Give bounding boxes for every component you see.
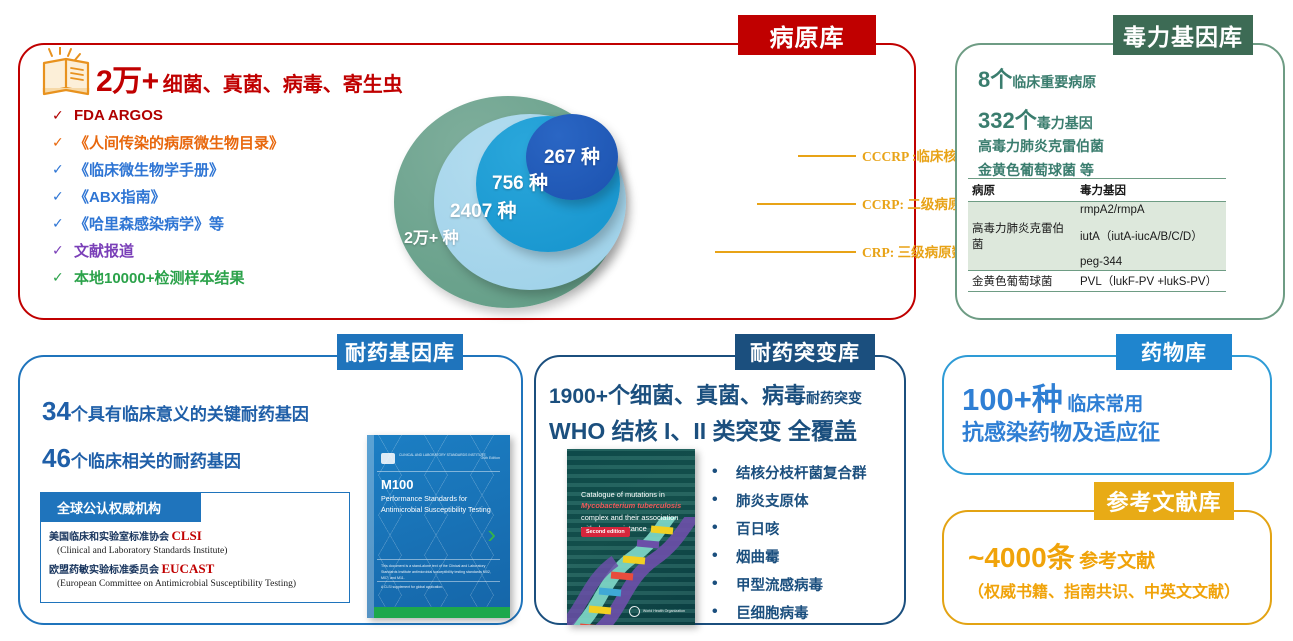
pathogen-source-item: ✓本地10000+检测样本结果 <box>52 264 352 291</box>
pathogen-source-label: 《临床微生物学手册》 <box>74 159 224 180</box>
virulence-species-1: 高毒力肺炎克雷伯菌 <box>978 136 1104 156</box>
virulence-species-2: 金黄色葡萄球菌 等 <box>978 160 1094 180</box>
leader-line-cccrp <box>798 155 856 157</box>
bullet-icon: • <box>712 519 736 537</box>
pathogen-source-label: 《ABX指南》 <box>74 186 166 207</box>
pathogen-categories: 细菌、真菌、病毒、寄生虫 <box>163 74 403 96</box>
infographic-canvas: 病原库 2万+细菌、真菌、病毒、寄生虫 ✓FDA ARGOS✓《人间传染的病原微… <box>0 0 1293 641</box>
bullet-icon: • <box>712 463 736 481</box>
cover-rule <box>377 471 500 472</box>
check-icon: ✓ <box>52 242 72 259</box>
venn-core-label: 267 种 <box>544 142 600 169</box>
resmut-list-item: •结核分枝杆菌复合群 <box>712 458 867 486</box>
virulence-gene-table: 病原 毒力基因 rmpA2/rmpA 高毒力肺炎克雷伯菌 iutA（iutA-i… <box>968 178 1226 292</box>
check-icon: ✓ <box>52 269 72 286</box>
bullet-icon: • <box>712 491 736 509</box>
pathogen-library-badge: 病原库 <box>738 15 876 55</box>
resmut-item-label: 肺炎支原体 <box>736 490 809 511</box>
pathogen-source-label: 《人间传染的病原微生物目录》 <box>74 132 284 153</box>
authority-entry-1-cn: 美国临床和实验室标准协会 CLSI <box>49 528 341 544</box>
authority-entry-2-en: (European Committee on Antimicrobial Sus… <box>57 579 341 589</box>
pathogen-source-item: ✓《临床微生物学手册》 <box>52 156 352 183</box>
pathogen-source-label: 文献报道 <box>74 240 134 261</box>
book-fineprint: This document is a stand-alone text of t… <box>381 563 498 581</box>
chevron-right-icon: › <box>487 519 496 550</box>
table-row: 金黄色葡萄球菌 PVL（lukF-PV +lukS-PV） <box>968 271 1226 292</box>
table-row: rmpA2/rmpA <box>968 202 1226 219</box>
pathogen-source-label: 本地10000+检测样本结果 <box>74 267 244 288</box>
authority-entry-1-en: (Clinical and Laboratory Standards Insti… <box>57 546 341 556</box>
cover-rule-2 <box>377 559 500 560</box>
resmut-item-label: 烟曲霉 <box>736 546 780 567</box>
drug-stat-line: 100+种 临床常用 <box>962 374 1143 419</box>
resistance-gene-badge: 耐药基因库 <box>337 334 463 370</box>
resistance-mutation-badge: 耐药突变库 <box>735 334 875 370</box>
pathogen-source-item: ✓《ABX指南》 <box>52 183 352 210</box>
col-pathogen: 病原 <box>968 179 1076 202</box>
cover-green-bar <box>374 607 510 618</box>
resgene-stat-2: 46个临床相关的耐药基因 <box>42 443 241 474</box>
resmut-list-item: •烟曲霉 <box>712 542 867 570</box>
table-row: peg-344 <box>968 254 1226 271</box>
gene-cell: PVL（lukF-PV +lukS-PV） <box>1076 271 1226 292</box>
pathogen-source-item: ✓《哈里森感染病学》等 <box>52 210 352 237</box>
reference-library-badge: 参考文献库 <box>1094 482 1234 520</box>
pathogen-source-item: ✓文献报道 <box>52 237 352 264</box>
cover-rule-3 <box>377 581 500 582</box>
book-fineprint-2: A CLSI supplement for global application… <box>381 585 443 589</box>
check-icon: ✓ <box>52 107 72 124</box>
authority-box: 全球公认权威机构 美国临床和实验室标准协会 CLSI (Clinical and… <box>40 492 350 603</box>
clsi-org-name: CLINICAL AND LABORATORY STANDARDS INSTIT… <box>399 453 486 458</box>
pathogen-cell: 高毒力肺炎克雷伯菌 <box>968 218 1076 254</box>
table-header-row: 病原 毒力基因 <box>968 179 1226 202</box>
resmut-item-label: 甲型流感病毒 <box>736 574 823 595</box>
pathogen-venn-diagram: 267 种 756 种 2407 种 2万+ 种 <box>378 92 708 310</box>
authority-header: 全球公认权威机构 <box>41 493 201 522</box>
authority-body: 美国临床和实验室标准协会 CLSI (Clinical and Laborato… <box>41 522 349 602</box>
virulence-gene-badge: 毒力基因库 <box>1113 15 1253 55</box>
pathogen-headline: 2万+细菌、真菌、病毒、寄生虫 <box>96 56 403 100</box>
reference-description: （权威书籍、指南共识、中英文文献） <box>968 578 1240 602</box>
resmut-who-coverage: WHO 结核 I、II 类突变 全覆盖 <box>549 412 857 446</box>
clsi-logo-icon <box>381 453 395 464</box>
who-catalogue-book-cover: Catalogue of mutations in Mycobacterium … <box>567 449 695 625</box>
who-book-edition: Second edition <box>581 527 630 537</box>
who-emblem <box>629 606 640 617</box>
virulence-stat-pathogens: 8个临床重要病原 <box>978 62 1096 94</box>
resmut-stat-line: 1900+个细菌、真菌、病毒耐药突变 <box>549 378 862 410</box>
gene-cell: rmpA2/rmpA <box>1076 202 1226 219</box>
pathogen-source-label: 《哈里森感染病学》等 <box>74 213 224 234</box>
resmut-pathogen-list: •结核分枝杆菌复合群•肺炎支原体•百日咳•烟曲霉•甲型流感病毒•巨细胞病毒 <box>712 458 867 626</box>
leader-line-ccrp <box>757 203 856 205</box>
who-org-name: World Health Organization <box>643 609 685 614</box>
pathogen-source-label: FDA ARGOS <box>74 107 163 124</box>
book-title: M100 <box>381 477 414 492</box>
resmut-list-item: •巨细胞病毒 <box>712 598 867 626</box>
resmut-list-item: •甲型流感病毒 <box>712 570 867 598</box>
resmut-item-label: 结核分枝杆菌复合群 <box>736 462 867 483</box>
check-icon: ✓ <box>52 161 72 178</box>
resgene-stat-1: 34个具有临床意义的关键耐药基因 <box>42 396 309 427</box>
pathogen-source-item: ✓FDA ARGOS <box>52 102 352 129</box>
drug-library-badge: 药物库 <box>1116 334 1232 370</box>
resmut-item-label: 百日咳 <box>736 518 780 539</box>
pathogen-count: 2万+ <box>96 65 159 98</box>
bullet-icon: • <box>712 547 736 565</box>
venn-inner-label: 756 种 <box>492 168 548 195</box>
venn-outer-label: 2万+ 种 <box>404 224 459 248</box>
bullet-icon: • <box>712 603 736 621</box>
check-icon: ✓ <box>52 134 72 151</box>
drug-description: 抗感染药物及适应征 <box>962 415 1160 447</box>
pathogen-source-list: ✓FDA ARGOS✓《人间传染的病原微生物目录》✓《临床微生物学手册》✓《AB… <box>52 102 352 291</box>
virulence-stat-genes: 332个毒力基因 <box>978 103 1093 135</box>
pathogen-cell: 金黄色葡萄球菌 <box>968 271 1076 292</box>
book-edition: 34th Edition <box>481 456 500 460</box>
m100-book-cover: CLINICAL AND LABORATORY STANDARDS INSTIT… <box>367 435 510 618</box>
venn-mid-label: 2407 种 <box>450 196 517 223</box>
col-gene: 毒力基因 <box>1076 179 1226 202</box>
gene-cell: iutA（iutA-iucA/B/C/D） <box>1076 218 1226 254</box>
resmut-list-item: •肺炎支原体 <box>712 486 867 514</box>
who-logo-icon: World Health Organization <box>629 606 685 617</box>
open-book-icon <box>40 47 92 97</box>
bullet-icon: • <box>712 575 736 593</box>
pathogen-source-item: ✓《人间传染的病原微生物目录》 <box>52 129 352 156</box>
leader-line-crp <box>715 251 856 253</box>
book-subtitle: Performance Standards for Antimicrobial … <box>381 494 498 516</box>
resmut-list-item: •百日咳 <box>712 514 867 542</box>
check-icon: ✓ <box>52 215 72 232</box>
table-row: 高毒力肺炎克雷伯菌 iutA（iutA-iucA/B/C/D） <box>968 218 1226 254</box>
book-spine <box>367 435 374 618</box>
check-icon: ✓ <box>52 188 72 205</box>
resmut-item-label: 巨细胞病毒 <box>736 602 809 623</box>
authority-entry-2-cn: 欧盟药敏实验标准委员会 EUCAST <box>49 561 341 577</box>
reference-stat-line: ~4000条 参考文献 <box>968 536 1155 576</box>
gene-cell: peg-344 <box>1076 254 1226 271</box>
